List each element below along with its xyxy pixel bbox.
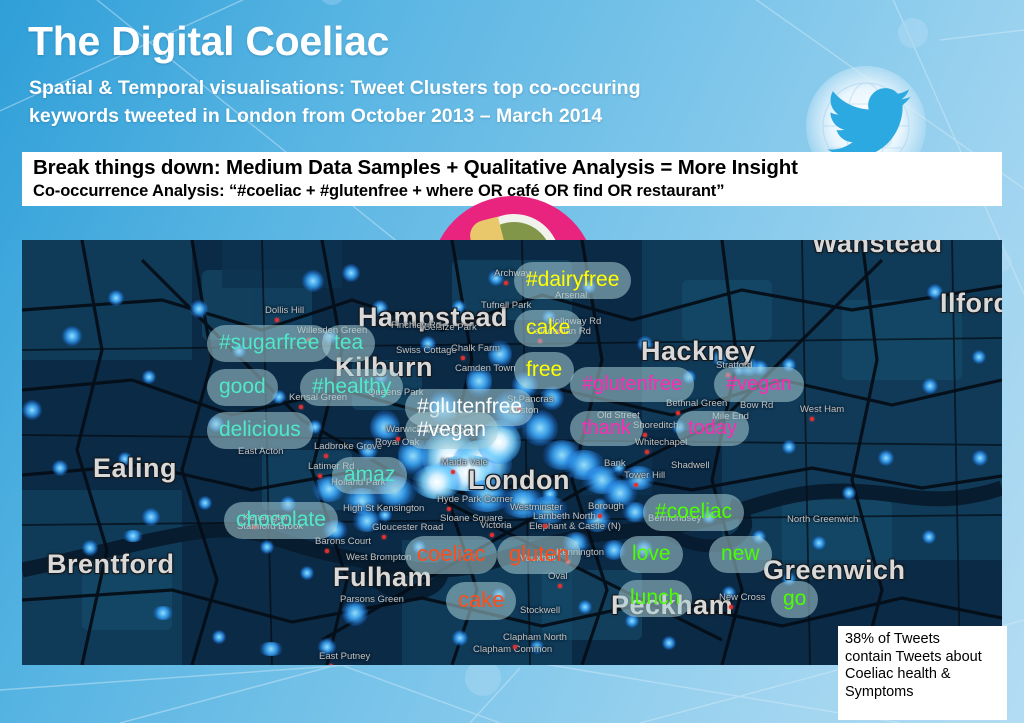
callout-line-2: contain Tweets about: [845, 649, 1000, 667]
station-dot: [325, 549, 329, 553]
keyword-cluster-label[interactable]: thank: [570, 411, 643, 446]
station-dot: [396, 437, 400, 441]
slide-root: The Digital Coeliac Spatial & Temporal v…: [0, 0, 1024, 723]
keyword-cluster-label[interactable]: #dairyfree: [514, 262, 631, 299]
keyword-cluster-label[interactable]: #glutenfree: [570, 367, 694, 402]
statistic-callout: 38% of Tweets contain Tweets about Coeli…: [838, 626, 1007, 720]
station-dot: [676, 411, 680, 415]
keyword-cluster-label[interactable]: tea: [322, 325, 375, 362]
station-dot: [447, 507, 451, 511]
station-dot: [461, 356, 465, 360]
keyword-cluster-label[interactable]: love: [620, 536, 683, 573]
station-dot: [643, 433, 647, 437]
keyword-cluster-label[interactable]: gluten: [497, 536, 581, 574]
keyword-cluster-label[interactable]: cake: [446, 582, 516, 620]
callout-line-4: Symptoms: [845, 684, 1000, 702]
station-dot: [299, 405, 303, 409]
keyword-cluster-label[interactable]: amaz: [332, 457, 407, 494]
subtitle-line-1: Spatial & Temporal visualisations: Tweet…: [29, 75, 829, 103]
station-dot: [645, 450, 649, 454]
callout-line-1: 38% of Tweets: [845, 631, 1000, 649]
station-dot: [324, 454, 328, 458]
station-dot: [543, 524, 547, 528]
keyword-cluster-label[interactable]: delicious: [207, 412, 313, 449]
keyword-cluster-label[interactable]: #coeliac: [643, 494, 744, 531]
station-dot: [810, 417, 814, 421]
keyword-cluster-label[interactable]: free: [514, 352, 574, 389]
keyword-cluster-label[interactable]: lunch: [618, 580, 692, 617]
station-dot: [382, 535, 386, 539]
banner-headline: Break things down: Medium Data Samples +…: [33, 155, 992, 180]
keyword-cluster-label[interactable]: #sugarfree: [207, 325, 331, 362]
station-dot: [329, 664, 333, 665]
keyword-cluster-label[interactable]: #vegan: [714, 367, 804, 402]
station-dot: [504, 281, 508, 285]
keyword-cluster-label[interactable]: good: [207, 369, 278, 406]
station-dot: [275, 318, 279, 322]
station-dot: [451, 470, 455, 474]
london-tweet-heatmap[interactable]: WansteadIlfordHampsteadHackneyKilburnEal…: [22, 240, 1002, 665]
keyword-cluster-label[interactable]: cake: [514, 310, 582, 347]
station-dot: [490, 533, 494, 537]
keyword-cluster-label[interactable]: #healthy: [300, 369, 403, 406]
station-dot: [558, 584, 562, 588]
subtitle-line-2: keywords tweeted in London from October …: [29, 103, 829, 131]
station-dot: [598, 514, 602, 518]
keyword-cluster-label[interactable]: coeliac: [405, 536, 497, 574]
page-title: The Digital Coeliac: [28, 20, 389, 63]
callout-line-3: Coeliac health &: [845, 666, 1000, 684]
keyword-cluster-label[interactable]: go: [771, 581, 818, 618]
station-dot: [729, 605, 733, 609]
keyword-cluster-label[interactable]: today: [676, 411, 749, 446]
keyword-cluster-label[interactable]: new: [709, 536, 772, 573]
station-dot: [513, 645, 517, 649]
station-dot: [634, 483, 638, 487]
page-subtitle: Spatial & Temporal visualisations: Tweet…: [29, 75, 829, 130]
keyword-cluster-label[interactable]: chocolate: [224, 502, 338, 539]
station-dot: [318, 474, 322, 478]
keyword-cluster-label[interactable]: #vegan: [405, 412, 498, 449]
